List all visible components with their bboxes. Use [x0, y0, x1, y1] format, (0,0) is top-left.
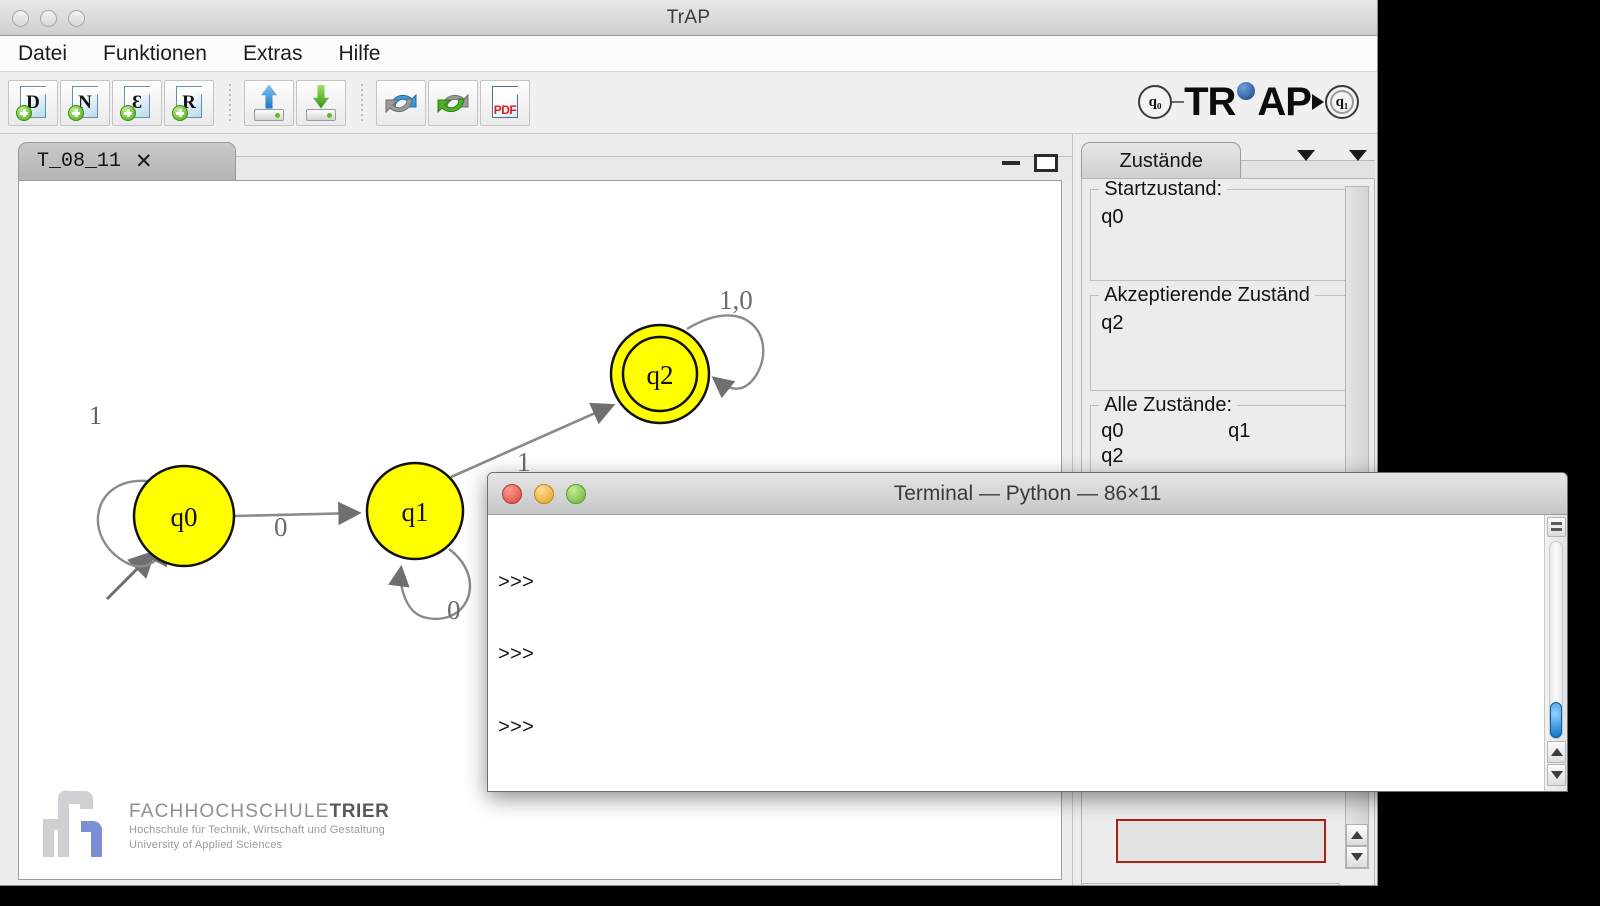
fh-logo-title-bold: TRIER: [330, 801, 390, 822]
new-document-r-icon: R: [174, 86, 204, 120]
new-nea-button[interactable]: N: [60, 80, 110, 126]
group-startzustand-title: Startzustand:: [1099, 178, 1227, 201]
undo-arrow-icon: [382, 86, 420, 120]
state-q2[interactable]: q2: [611, 325, 709, 423]
group-startzustand-value: q0: [1101, 204, 1355, 231]
group-akzeptierende-title: Akzeptierende Zuständ: [1099, 284, 1315, 307]
triangle-down-icon: [1351, 853, 1363, 861]
terminal-title: Terminal — Python — 86×11: [488, 482, 1567, 506]
download-arrow-icon: [304, 85, 338, 121]
editor-maximize-button[interactable]: [1034, 154, 1058, 172]
pdf-document-icon: PDF: [490, 86, 520, 120]
side-tabbar-filler: [1223, 160, 1375, 180]
terminal-titlebar: Terminal — Python — 86×11: [488, 473, 1567, 515]
menubar: Datei Funktionen Extras Hilfe: [0, 36, 1377, 72]
export-pdf-button[interactable]: PDF: [480, 80, 530, 126]
logo-state-q0: q₀: [1138, 85, 1172, 119]
terminal-vertical-scrollbar[interactable]: [1544, 515, 1567, 791]
triangle-up-icon: [1351, 831, 1363, 839]
transition-label-q2-q2: 1,0: [719, 285, 753, 315]
scrollbar-thumb[interactable]: [1550, 702, 1562, 738]
logo-connector-left: [1172, 101, 1184, 103]
logo-blue-dot-icon: [1237, 82, 1255, 100]
terminal-output[interactable]: >>> >>> >>> >>> import trap >>> A = trap…: [488, 515, 1567, 791]
new-dea-button[interactable]: D: [8, 80, 58, 126]
triangle-up-icon: [1551, 748, 1563, 756]
list-item[interactable]: q2: [1101, 445, 1228, 468]
menu-hilfe[interactable]: Hilfe: [334, 40, 384, 68]
list-item[interactable]: q1: [1228, 420, 1355, 443]
document-tab[interactable]: T_08_11 ✕: [18, 142, 236, 180]
fh-logo-title-light: FACHHOCHSCHULE: [129, 801, 330, 822]
tab-zustaende[interactable]: Zustände: [1081, 142, 1241, 180]
upload-arrow-icon: [252, 85, 286, 121]
logo-arrow-icon: [1312, 94, 1324, 110]
transition-label-q0-q0: 1: [89, 401, 102, 430]
new-document-d-icon: D: [18, 86, 48, 120]
redo-arrow-icon: [434, 86, 472, 120]
toolbar-separator-1: [222, 80, 238, 126]
logo-text-tr: TR: [1184, 82, 1235, 122]
scroll-up-button[interactable]: [1547, 741, 1566, 763]
chevron-down-icon-2[interactable]: [1349, 150, 1367, 161]
document-tabbar: T_08_11 ✕: [18, 142, 1072, 180]
fh-logo-title: FACHHOCHSCHULETRIER: [129, 801, 390, 823]
terminal-line: >>> import trap: [498, 790, 1567, 791]
group-alle-zustaende-title: Alle Zustände:: [1099, 394, 1237, 417]
redo-button[interactable]: [428, 80, 478, 126]
scroll-left-button[interactable]: [1282, 885, 1310, 886]
logo-text-ap: AP: [1257, 82, 1311, 122]
close-icon[interactable]: ✕: [135, 151, 153, 172]
highlighted-field[interactable]: [1116, 819, 1326, 863]
menu-extras[interactable]: Extras: [239, 40, 307, 68]
scroll-up-button[interactable]: [1346, 824, 1368, 846]
document-tab-label: T_08_11: [37, 150, 121, 173]
triangle-down-icon: [1551, 771, 1563, 779]
screen: TrAP Datei Funktionen Extras Hilfe D N: [0, 0, 1600, 906]
group-akzeptierende-zustaende: Akzeptierende Zuständ q2: [1090, 295, 1366, 391]
menu-funktionen[interactable]: Funktionen: [99, 40, 211, 68]
tab-zustaende-label: Zustände: [1120, 150, 1203, 173]
terminal-window: Terminal — Python — 86×11 >>> >>> >>> >>…: [487, 472, 1568, 792]
trap-titlebar: TrAP: [0, 0, 1377, 36]
state-label-q2: q2: [647, 360, 674, 390]
scrollbar-track[interactable]: [1549, 541, 1563, 739]
fh-logo-subtitle-en: University of Applied Sciences: [129, 838, 390, 853]
window-title: TrAP: [0, 7, 1377, 29]
logo-state-q1: q₁: [1325, 85, 1359, 119]
group-akzeptierende-value: q2: [1101, 310, 1355, 337]
scrollbar-split-button[interactable]: [1547, 517, 1566, 537]
new-document-epsilon-icon: Ɛ: [122, 86, 152, 120]
side-panel-tabbar: Zustände: [1073, 142, 1377, 180]
scroll-down-button[interactable]: [1346, 846, 1368, 868]
transition-q0-q1: [235, 513, 357, 516]
group-startzustand: Startzustand: q0: [1090, 189, 1366, 281]
export-button[interactable]: [296, 80, 346, 126]
undo-button[interactable]: [376, 80, 426, 126]
terminal-line: >>>: [498, 717, 1567, 741]
editor-minimize-button[interactable]: [1002, 161, 1020, 165]
transition-label-q0-q1: 0: [274, 512, 288, 542]
list-item[interactable]: q0: [1101, 420, 1228, 443]
side-panel-horizontal-scrollbar[interactable]: [1081, 883, 1341, 886]
state-q0[interactable]: q0: [134, 466, 234, 566]
toolbar: D N Ɛ R: [0, 72, 1377, 134]
trap-logo: q₀ TR AP q₁: [1138, 76, 1359, 128]
state-label-q0: q0: [171, 502, 198, 532]
state-label-q1: q1: [402, 497, 429, 527]
all-states-list: q0 q1 q2: [1101, 420, 1355, 468]
fh-logo-mark-icon: [41, 785, 115, 857]
transition-label-q1-q1: 0: [447, 595, 461, 625]
terminal-line: >>>: [498, 644, 1567, 668]
editor-window-controls: [1002, 154, 1058, 172]
scroll-right-button[interactable]: [1311, 885, 1339, 886]
import-button[interactable]: [244, 80, 294, 126]
state-q1[interactable]: q1: [367, 463, 463, 559]
transition-q1-q2: [451, 406, 611, 477]
fh-logo-subtitle-de: Hochschule für Technik, Wirtschaft und G…: [129, 823, 390, 838]
menu-datei[interactable]: Datei: [14, 40, 71, 68]
new-document-n-icon: N: [70, 86, 100, 120]
chevron-down-icon-1[interactable]: [1297, 150, 1315, 161]
terminal-line: >>>: [498, 572, 1567, 596]
toolbar-separator-2: [354, 80, 370, 126]
scroll-down-button[interactable]: [1547, 764, 1566, 786]
fh-logo-text: FACHHOCHSCHULETRIER Hochschule für Techn…: [129, 801, 390, 857]
start-arrow: [107, 554, 152, 599]
tabbar-filler: [214, 156, 1072, 180]
fachhochschule-trier-logo: FACHHOCHSCHULETRIER Hochschule für Techn…: [41, 785, 390, 857]
new-epsilon-nea-button[interactable]: Ɛ: [112, 80, 162, 126]
new-regex-button[interactable]: R: [164, 80, 214, 126]
